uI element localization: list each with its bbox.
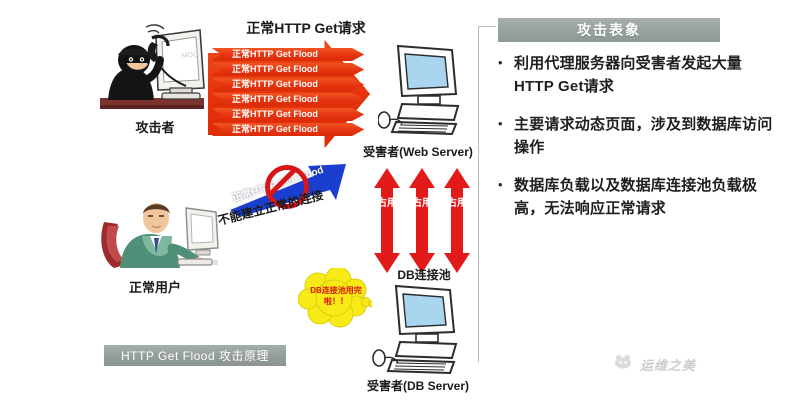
flood-banner-label: 正常HTTP Get Flood <box>212 78 364 91</box>
occupy-arrow-label: 占用 <box>444 198 470 209</box>
bottom-banner: HTTP Get Flood 攻击原理 <box>104 345 286 366</box>
diagram-title: 正常HTTP Get请求 <box>226 18 386 38</box>
occupy-arrow-label: 占用 <box>374 198 400 209</box>
panel-header: 攻击表象 <box>498 18 720 42</box>
watermark-text: 运维之美 <box>640 355 696 374</box>
bullet-marker: • <box>498 113 514 159</box>
watermark: 运维之美 <box>614 354 696 375</box>
callout-text: DB连接池用完啦！！ <box>306 285 366 307</box>
db-pool-exhausted-callout: DB连接池用完啦！！ <box>298 268 372 330</box>
bullet-marker: • <box>498 52 514 98</box>
label-db-pool: DB连接池 <box>372 266 476 283</box>
bullet-item: • 利用代理服务器向受害者发起大量HTTP Get请求 <box>498 52 780 98</box>
flood-banner-stack: 正常HTTP Get Flood 正常HTTP Get Flood 正常HTTP… <box>212 46 368 144</box>
bullet-text: 数据库负载以及数据库连接池负载极高，无法响应正常请求 <box>514 174 780 220</box>
label-web-server: 受害者(Web Server) <box>352 143 484 160</box>
flood-banner-label: 正常HTTP Get Flood <box>212 123 364 136</box>
label-attacker: 攻击者 <box>100 117 210 136</box>
label-normal-user: 正常用户 <box>100 277 210 296</box>
bullet-item: • 主要请求动态页面，涉及到数据库访问操作 <box>498 113 780 159</box>
db-server-illustration <box>372 282 464 376</box>
panel-bullet-list: • 利用代理服务器向受害者发起大量HTTP Get请求 • 主要请求动态页面，涉… <box>498 52 780 235</box>
divider-tick <box>478 26 496 27</box>
bullet-text: 利用代理服务器向受害者发起大量HTTP Get请求 <box>514 52 780 98</box>
label-db-server: 受害者(DB Server) <box>352 377 484 394</box>
flood-banner-label: 正常HTTP Get Flood <box>212 48 364 61</box>
attacker-illustration: MOO <box>96 24 214 116</box>
occupy-arrow: 占用 <box>444 168 470 273</box>
normal-user-illustration <box>98 186 222 276</box>
occupy-arrow: 占用 <box>374 168 400 273</box>
occupy-arrow-label: 占用 <box>409 198 435 209</box>
slide-canvas: 正常HTTP Get请求 MOO <box>0 0 788 400</box>
bullet-item: • 数据库负载以及数据库连接池负载极高，无法响应正常请求 <box>498 174 780 220</box>
flood-banner-label: 正常HTTP Get Flood <box>212 63 364 76</box>
panel-divider <box>478 26 479 362</box>
web-server-illustration <box>378 40 464 140</box>
bullet-text: 主要请求动态页面，涉及到数据库访问操作 <box>514 113 780 159</box>
flood-banner-label: 正常HTTP Get Flood <box>212 93 364 106</box>
occupy-arrow: 占用 <box>409 168 435 273</box>
flood-banner-label: 正常HTTP Get Flood <box>212 108 364 121</box>
bullet-marker: • <box>498 174 514 220</box>
watermark-icon <box>614 354 634 375</box>
